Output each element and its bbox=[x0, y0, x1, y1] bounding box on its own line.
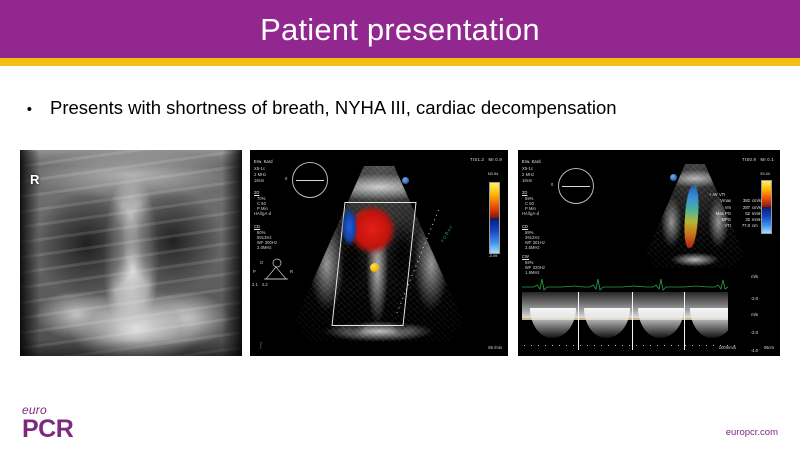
measurement-value: 77.0 bbox=[735, 223, 752, 229]
echo-probe-label: X5-1c bbox=[254, 166, 265, 171]
ecg-trace bbox=[522, 276, 728, 292]
cw-depth-marker: 06cm bbox=[764, 345, 774, 350]
bullet-marker: • bbox=[0, 102, 50, 117]
sweep-speed-label: 100mm/s bbox=[719, 345, 736, 350]
velocity-tick: -4.0 bbox=[751, 348, 758, 353]
bullet-text: Presents with shortness of breath, NYHA … bbox=[50, 96, 617, 119]
spectral-envelope bbox=[638, 308, 684, 338]
doppler-measurement-panel: + AV VTI Vmax 382 cm/s Vm 287 cm/s Max P… bbox=[708, 192, 768, 230]
cw-dial-indicator-line bbox=[562, 186, 591, 187]
echo-2d-header: 2D bbox=[254, 190, 259, 195]
measurement-row: VTI 77.0 cm bbox=[708, 223, 768, 229]
echo-depth-label: 18cm bbox=[254, 178, 264, 183]
cw-probe-orientation-dial bbox=[558, 168, 594, 204]
echo-green-annotation: T O B a y bbox=[441, 225, 454, 244]
blue-orientation-marker bbox=[402, 177, 409, 184]
gain-label-left: P bbox=[253, 269, 256, 274]
spectral-envelope bbox=[530, 308, 576, 338]
cw-2d-header: 2D bbox=[522, 190, 527, 195]
doppler-colorbar bbox=[489, 182, 500, 254]
probe-orientation-dial bbox=[292, 162, 328, 198]
spectral-envelope bbox=[584, 308, 630, 338]
cw-probe-label: X5-1c bbox=[522, 166, 533, 171]
spectral-doppler-trace bbox=[522, 292, 728, 350]
colorbar-bottom-label: -0.09 bbox=[482, 254, 504, 258]
velocity-unit-label: m/s bbox=[751, 274, 758, 279]
europcr-logo: euro PCR bbox=[22, 404, 100, 442]
cw-cd-header: CD bbox=[522, 224, 528, 229]
cw-cd-frequency: 2.5MHz bbox=[525, 245, 540, 250]
colorbar-positive bbox=[490, 183, 499, 218]
cw-frequency: 1.9MHz bbox=[525, 270, 540, 275]
footer-url: europcr.com bbox=[726, 427, 778, 438]
gain-curve-icon bbox=[258, 258, 294, 282]
yellow-measurement-marker bbox=[370, 263, 379, 272]
colorbar-top-label: N3.54 bbox=[482, 172, 504, 176]
dial-indicator-line bbox=[296, 180, 325, 181]
color-jet-blue bbox=[342, 208, 357, 246]
echo-2d-map: HA/lgA-d bbox=[254, 211, 271, 216]
cw-frequency-label: 2 MHz bbox=[522, 172, 534, 177]
cw-colorbar-top-label: 93.34 bbox=[754, 172, 776, 176]
velocity-tick: m/s bbox=[751, 312, 758, 317]
spectral-sweep-line bbox=[578, 292, 579, 350]
cw-2d-map: HA/lgA-d bbox=[522, 211, 539, 216]
cw-depth-label: 18cm bbox=[522, 178, 532, 183]
ecg-lead-glyph: ∫ bbox=[260, 342, 262, 349]
echo-frequency-label: 2 MHz bbox=[254, 172, 266, 177]
cw-colorbar-negative bbox=[762, 207, 771, 233]
dial-zero-label: 0 bbox=[285, 176, 287, 181]
echo-cd-frequency: 2.0MHz bbox=[257, 245, 272, 250]
logo-pcr-text: PCR bbox=[22, 417, 100, 442]
cw-colorbar-positive bbox=[762, 181, 771, 207]
gain-label-top: G bbox=[260, 260, 263, 265]
spectral-sweep-line bbox=[684, 292, 685, 350]
title-accent-rule bbox=[0, 58, 800, 66]
list-item: • Presents with shortness of breath, NYH… bbox=[0, 96, 800, 119]
time-axis bbox=[524, 343, 740, 347]
cw-blue-orientation-marker bbox=[670, 174, 677, 181]
cw-safety-indices: TIS0.9 MI 0.1 bbox=[742, 157, 774, 162]
figure-strip: R Erw. Kard X5-1c 2 MHz 18cm 2D 70% C 50… bbox=[0, 150, 800, 356]
cw-preset-label: Erw. Kard bbox=[522, 159, 541, 164]
xray-side-marker: R bbox=[30, 172, 39, 187]
slide-title-bar: Patient presentation bbox=[0, 0, 800, 58]
page-title: Patient presentation bbox=[260, 14, 540, 45]
measurement-label: VTI bbox=[708, 223, 735, 229]
cw-mode-header: CW bbox=[522, 254, 529, 259]
velocity-tick: -2.0 bbox=[751, 330, 758, 335]
cw-dial-zero-label: 0 bbox=[551, 182, 553, 187]
spectral-sweep-line bbox=[632, 292, 633, 350]
gain-label-right: R bbox=[290, 269, 293, 274]
cw-doppler-echo-image: T O B Erw. Kard X5-1c 2 MHz 18cm 2D 59% … bbox=[518, 150, 780, 356]
colorbar-negative bbox=[490, 218, 499, 253]
xray-vignette bbox=[20, 150, 242, 356]
gain-values: 2.1 4.2 bbox=[252, 282, 268, 287]
echo-heart-rate: 65 /min bbox=[488, 345, 502, 350]
cw-doppler-colorbar bbox=[761, 180, 772, 234]
bullet-list: • Presents with shortness of breath, NYH… bbox=[0, 96, 800, 119]
chest-xray-image: R bbox=[20, 150, 242, 356]
velocity-tick: -2.0 bbox=[751, 296, 758, 301]
echo-preset-label: Erw. Kard bbox=[254, 159, 273, 164]
echo-cd-header: CD bbox=[254, 224, 260, 229]
spectral-envelope bbox=[690, 308, 728, 338]
echo-safety-indices: TIS1.2 MI 0.9 bbox=[470, 157, 502, 162]
color-doppler-echo-image: Erw. Kard X5-1c 2 MHz 18cm 2D 70% C 50 P… bbox=[250, 150, 508, 356]
